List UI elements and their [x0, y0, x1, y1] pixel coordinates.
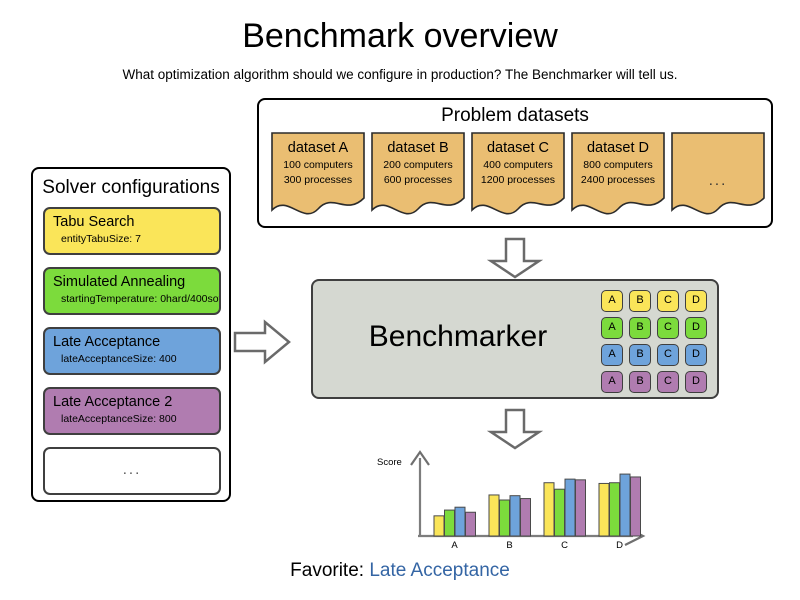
arrow-right-icon [233, 318, 291, 371]
problem-dataset-processes: 300 processes [271, 173, 365, 188]
chart-bar [455, 507, 465, 536]
benchmark-chip[interactable]: B [629, 371, 651, 393]
benchmark-result-chart: Score ABCD [375, 448, 655, 556]
problem-dataset-computers: 800 computers [571, 158, 665, 173]
chart-bar [500, 500, 510, 536]
ellipsis-icon: ... [123, 465, 142, 481]
solver-config-card[interactable]: Tabu SearchentityTabuSize: 7 [43, 207, 221, 255]
benchmark-chip[interactable]: A [601, 290, 623, 312]
chart-bar [434, 516, 444, 536]
favorite-value: Late Acceptance [369, 560, 510, 581]
problem-dataset-name: dataset B [371, 132, 465, 158]
chart-bar [631, 477, 641, 536]
chart-bar [489, 495, 499, 536]
ellipsis-icon: ... [671, 132, 765, 189]
problem-dataset-list: dataset A100 computers300 processesdatas… [271, 132, 763, 218]
benchmark-chip[interactable]: B [629, 317, 651, 339]
chart-bar [544, 483, 554, 536]
page-subtitle: What optimization algorithm should we co… [0, 66, 800, 84]
problem-dataset-computers: 200 computers [371, 158, 465, 173]
favorite-line: Favorite: Late Acceptance [0, 558, 800, 584]
benchmark-matrix-grid: ABCDABCDABCDABCD [601, 290, 707, 393]
problem-dataset-processes: 1200 processes [471, 173, 565, 188]
solver-config-name: Tabu Search [53, 213, 211, 232]
benchmark-chip[interactable]: B [629, 290, 651, 312]
benchmark-chip[interactable]: D [685, 371, 707, 393]
chart-bar [466, 512, 476, 536]
problem-datasets-title: Problem datasets [259, 103, 771, 129]
problem-dataset-text: dataset D800 computers2400 processes [571, 132, 665, 188]
chart-bar [576, 480, 586, 536]
chart-svg: ABCD [375, 448, 655, 556]
benchmark-chip[interactable]: C [657, 344, 679, 366]
chart-bar [510, 496, 520, 536]
favorite-prefix: Favorite: [290, 560, 364, 581]
solver-config-more[interactable]: ... [43, 447, 221, 495]
problem-dataset-name: dataset A [271, 132, 365, 158]
benchmark-chip[interactable]: D [685, 344, 707, 366]
solver-config-card[interactable]: Late AcceptancelateAcceptanceSize: 400 [43, 327, 221, 375]
chart-bar [610, 483, 620, 536]
problem-dataset-text: dataset B200 computers600 processes [371, 132, 465, 188]
problem-dataset-card[interactable]: dataset A100 computers300 processes [271, 132, 363, 218]
problem-dataset-card[interactable]: dataset B200 computers600 processes [371, 132, 463, 218]
chart-bar [555, 489, 565, 536]
benchmark-chip[interactable]: C [657, 317, 679, 339]
chart-bar [565, 479, 575, 536]
solver-config-card[interactable]: Late Acceptance 2lateAcceptanceSize: 800 [43, 387, 221, 435]
solver-config-name: Simulated Annealing [53, 273, 211, 292]
solver-config-name: Late Acceptance 2 [53, 393, 211, 412]
benchmark-chip[interactable]: C [657, 371, 679, 393]
solver-config-param: lateAcceptanceSize: 800 [53, 412, 211, 426]
problem-dataset-processes: 600 processes [371, 173, 465, 188]
problem-dataset-card[interactable]: dataset C400 computers1200 processes [471, 132, 563, 218]
benchmarker-label: Benchmarker [313, 318, 603, 356]
page-title: Benchmark overview [0, 16, 800, 56]
solver-configurations-panel: Solver configurations Tabu SearchentityT… [31, 167, 231, 502]
chart-x-tick-label: C [561, 540, 568, 551]
problem-dataset-processes: 2400 processes [571, 173, 665, 188]
chart-bar [599, 483, 609, 536]
benchmark-chip[interactable]: A [601, 371, 623, 393]
problem-dataset-computers: 400 computers [471, 158, 565, 173]
arrow-down-icon [487, 237, 543, 284]
solver-config-param: lateAcceptanceSize: 400 [53, 352, 211, 366]
problem-dataset-name: dataset D [571, 132, 665, 158]
chart-x-tick-label: A [451, 540, 458, 551]
benchmark-chip[interactable]: D [685, 290, 707, 312]
chart-x-tick-label: D [616, 540, 623, 551]
solver-config-param: entityTabuSize: 7 [53, 232, 211, 246]
chart-x-tick-label: B [506, 540, 512, 551]
chart-bar [620, 474, 630, 536]
problem-dataset-name: dataset C [471, 132, 565, 158]
benchmark-chip[interactable]: A [601, 344, 623, 366]
solver-config-card[interactable]: Simulated AnnealingstartingTemperature: … [43, 267, 221, 315]
problem-dataset-computers: 100 computers [271, 158, 365, 173]
problem-dataset-more[interactable]: ... [671, 132, 763, 218]
benchmark-chip[interactable]: A [601, 317, 623, 339]
benchmark-chip[interactable]: D [685, 317, 707, 339]
solver-config-name: Late Acceptance [53, 333, 211, 352]
solver-configurations-title: Solver configurations [33, 175, 229, 201]
problem-dataset-text: dataset A100 computers300 processes [271, 132, 365, 188]
solver-configuration-list: Tabu SearchentityTabuSize: 7Simulated An… [43, 207, 221, 507]
benchmark-chip[interactable]: C [657, 290, 679, 312]
benchmark-chip[interactable]: B [629, 344, 651, 366]
chart-bar [445, 510, 455, 536]
benchmarker-box: Benchmarker ABCDABCDABCDABCD [311, 279, 719, 399]
problem-dataset-text: dataset C400 computers1200 processes [471, 132, 565, 188]
solver-config-param: startingTemperature: 0hard/400soft [53, 292, 211, 306]
chart-y-axis-label: Score [377, 457, 402, 469]
problem-dataset-text: ... [671, 132, 765, 189]
problem-dataset-card[interactable]: dataset D800 computers2400 processes [571, 132, 663, 218]
problem-datasets-panel: Problem datasets dataset A100 computers3… [257, 98, 773, 228]
chart-bar [521, 499, 531, 536]
